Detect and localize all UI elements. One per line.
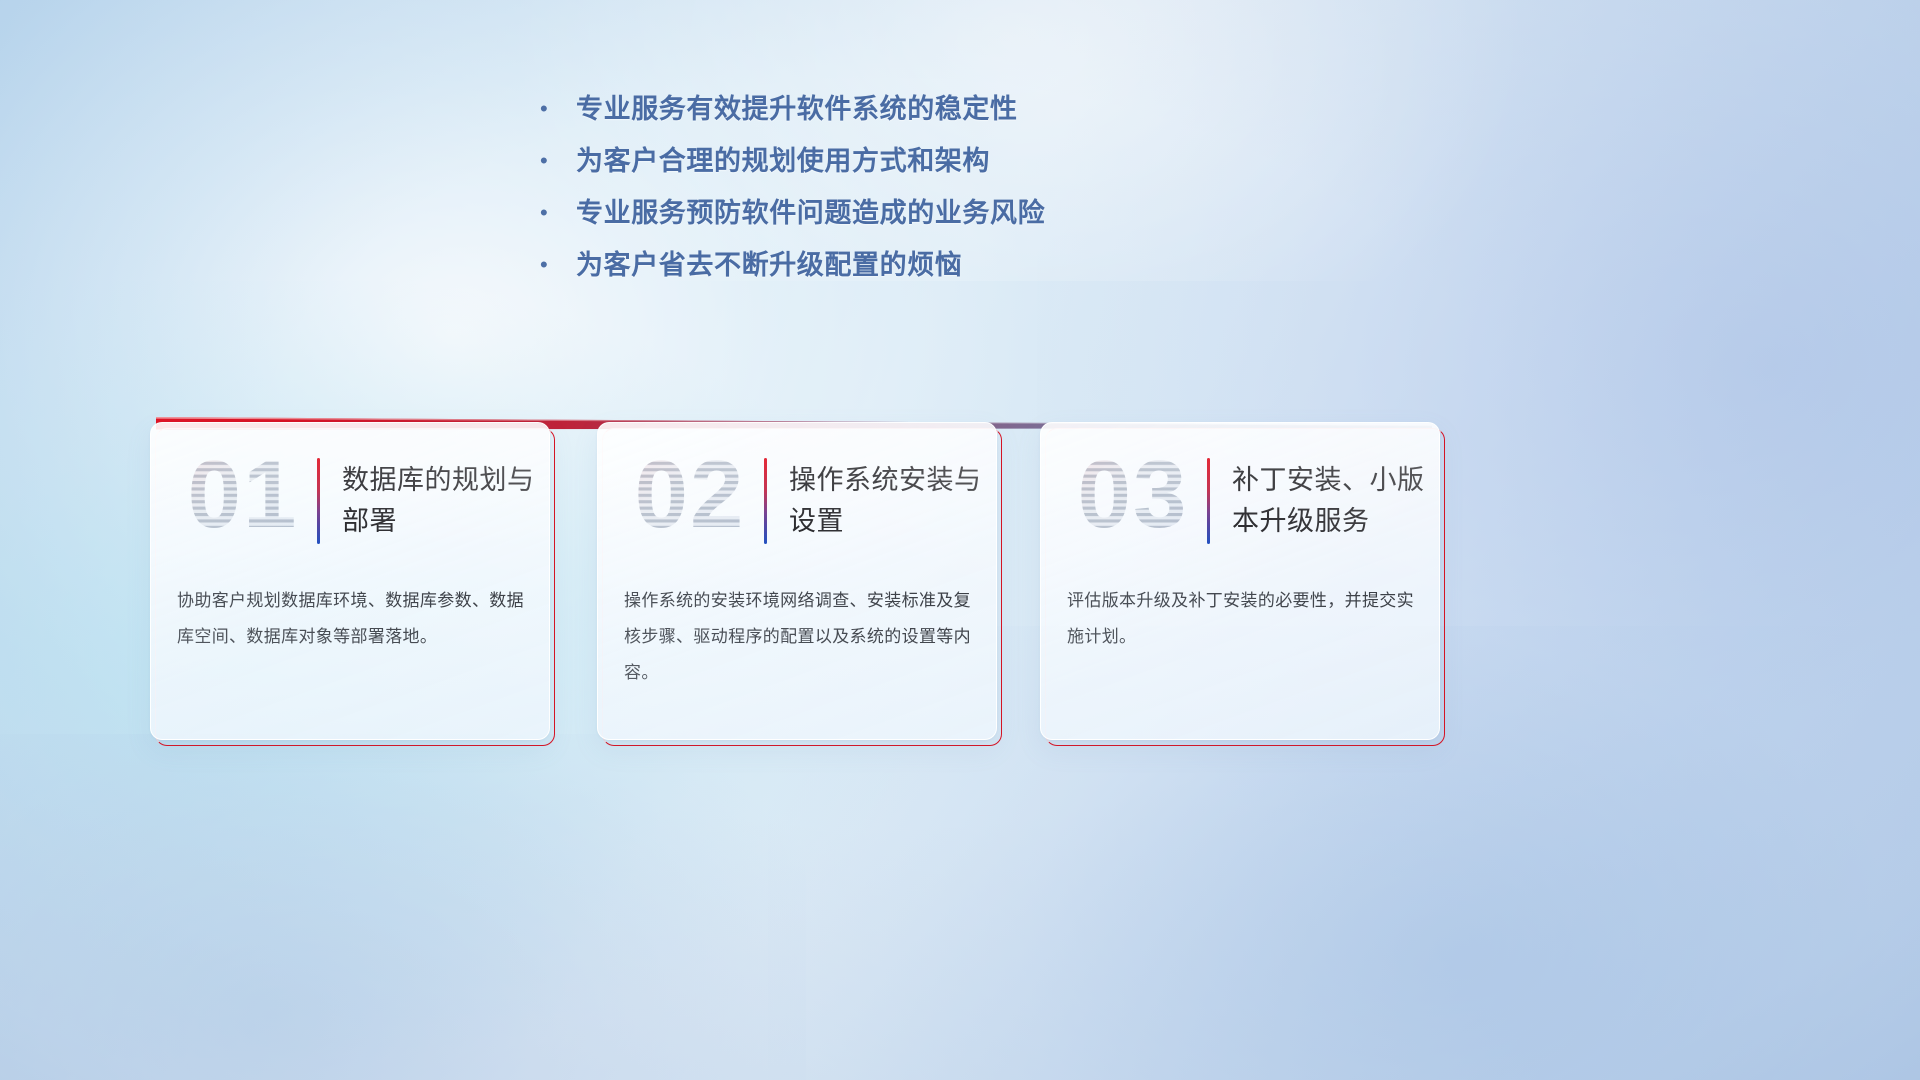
card-description: 协助客户规划数据库环境、数据库参数、数据库空间、数据库对象等部署落地。 <box>177 583 525 655</box>
card-title: 补丁安装、小版本升级服务 <box>1232 460 1439 542</box>
striped-number-01: 01 <box>173 449 313 553</box>
service-card[interactable]: 02 操作系统安装与设置 操作系统的安装环境网络调查、安装标准及复核步骤、驱动程… <box>597 422 997 740</box>
bullet-text: 专业服务有效提升软件系统的稳定性 <box>576 92 1018 126</box>
bullet-dot-icon: • <box>540 144 576 178</box>
list-item: • 专业服务预防软件问题造成的业务风险 <box>540 196 1300 248</box>
list-item: • 专业服务有效提升软件系统的稳定性 <box>540 92 1300 144</box>
service-card[interactable]: 03 补丁安装、小版本升级服务 评估版本升级及补丁安装的必要性，并提交实施计划。 <box>1040 422 1440 740</box>
card-number-watermark: 03 <box>1063 449 1203 553</box>
bullet-dot-icon: • <box>540 92 576 126</box>
bullet-text: 为客户合理的规划使用方式和架构 <box>576 144 990 178</box>
card-surface: 01 数据库的规划与部署 协助客户规划数据库环境、数据库参数、数据库空间、数据库… <box>150 422 550 740</box>
card-surface: 03 补丁安装、小版本升级服务 评估版本升级及补丁安装的必要性，并提交实施计划。 <box>1040 422 1440 740</box>
card-title: 数据库的规划与部署 <box>342 460 549 542</box>
bullet-text: 专业服务预防软件问题造成的业务风险 <box>576 196 1045 230</box>
service-cards: 01 数据库的规划与部署 协助客户规划数据库环境、数据库参数、数据库空间、数据库… <box>150 422 1450 752</box>
bullet-dot-icon: • <box>540 196 576 230</box>
list-item: • 为客户合理的规划使用方式和架构 <box>540 144 1300 196</box>
card-description: 操作系统的安装环境网络调查、安装标准及复核步骤、驱动程序的配置以及系统的设置等内… <box>624 583 972 691</box>
card-accent-bar <box>764 458 767 544</box>
card-header: 02 操作系统安装与设置 <box>598 439 996 563</box>
list-item: • 为客户省去不断升级配置的烦恼 <box>540 248 1300 300</box>
card-accent-bar <box>317 458 320 544</box>
card-header: 03 补丁安装、小版本升级服务 <box>1041 439 1439 563</box>
card-header: 01 数据库的规划与部署 <box>151 439 549 563</box>
card-number-watermark: 02 <box>620 449 760 553</box>
bullet-text: 为客户省去不断升级配置的烦恼 <box>576 248 962 282</box>
card-surface: 02 操作系统安装与设置 操作系统的安装环境网络调查、安装标准及复核步骤、驱动程… <box>597 422 997 740</box>
card-accent-bar <box>1207 458 1210 544</box>
striped-number-03: 03 <box>1063 449 1203 553</box>
service-card[interactable]: 01 数据库的规划与部署 协助客户规划数据库环境、数据库参数、数据库空间、数据库… <box>150 422 550 740</box>
card-description: 评估版本升级及补丁安装的必要性，并提交实施计划。 <box>1067 583 1415 655</box>
card-number-watermark: 01 <box>173 449 313 553</box>
striped-number-02: 02 <box>620 449 760 553</box>
card-title: 操作系统安装与设置 <box>789 460 996 542</box>
bullet-dot-icon: • <box>540 248 576 282</box>
benefits-bullet-list: • 专业服务有效提升软件系统的稳定性 • 为客户合理的规划使用方式和架构 • 专… <box>540 92 1300 300</box>
